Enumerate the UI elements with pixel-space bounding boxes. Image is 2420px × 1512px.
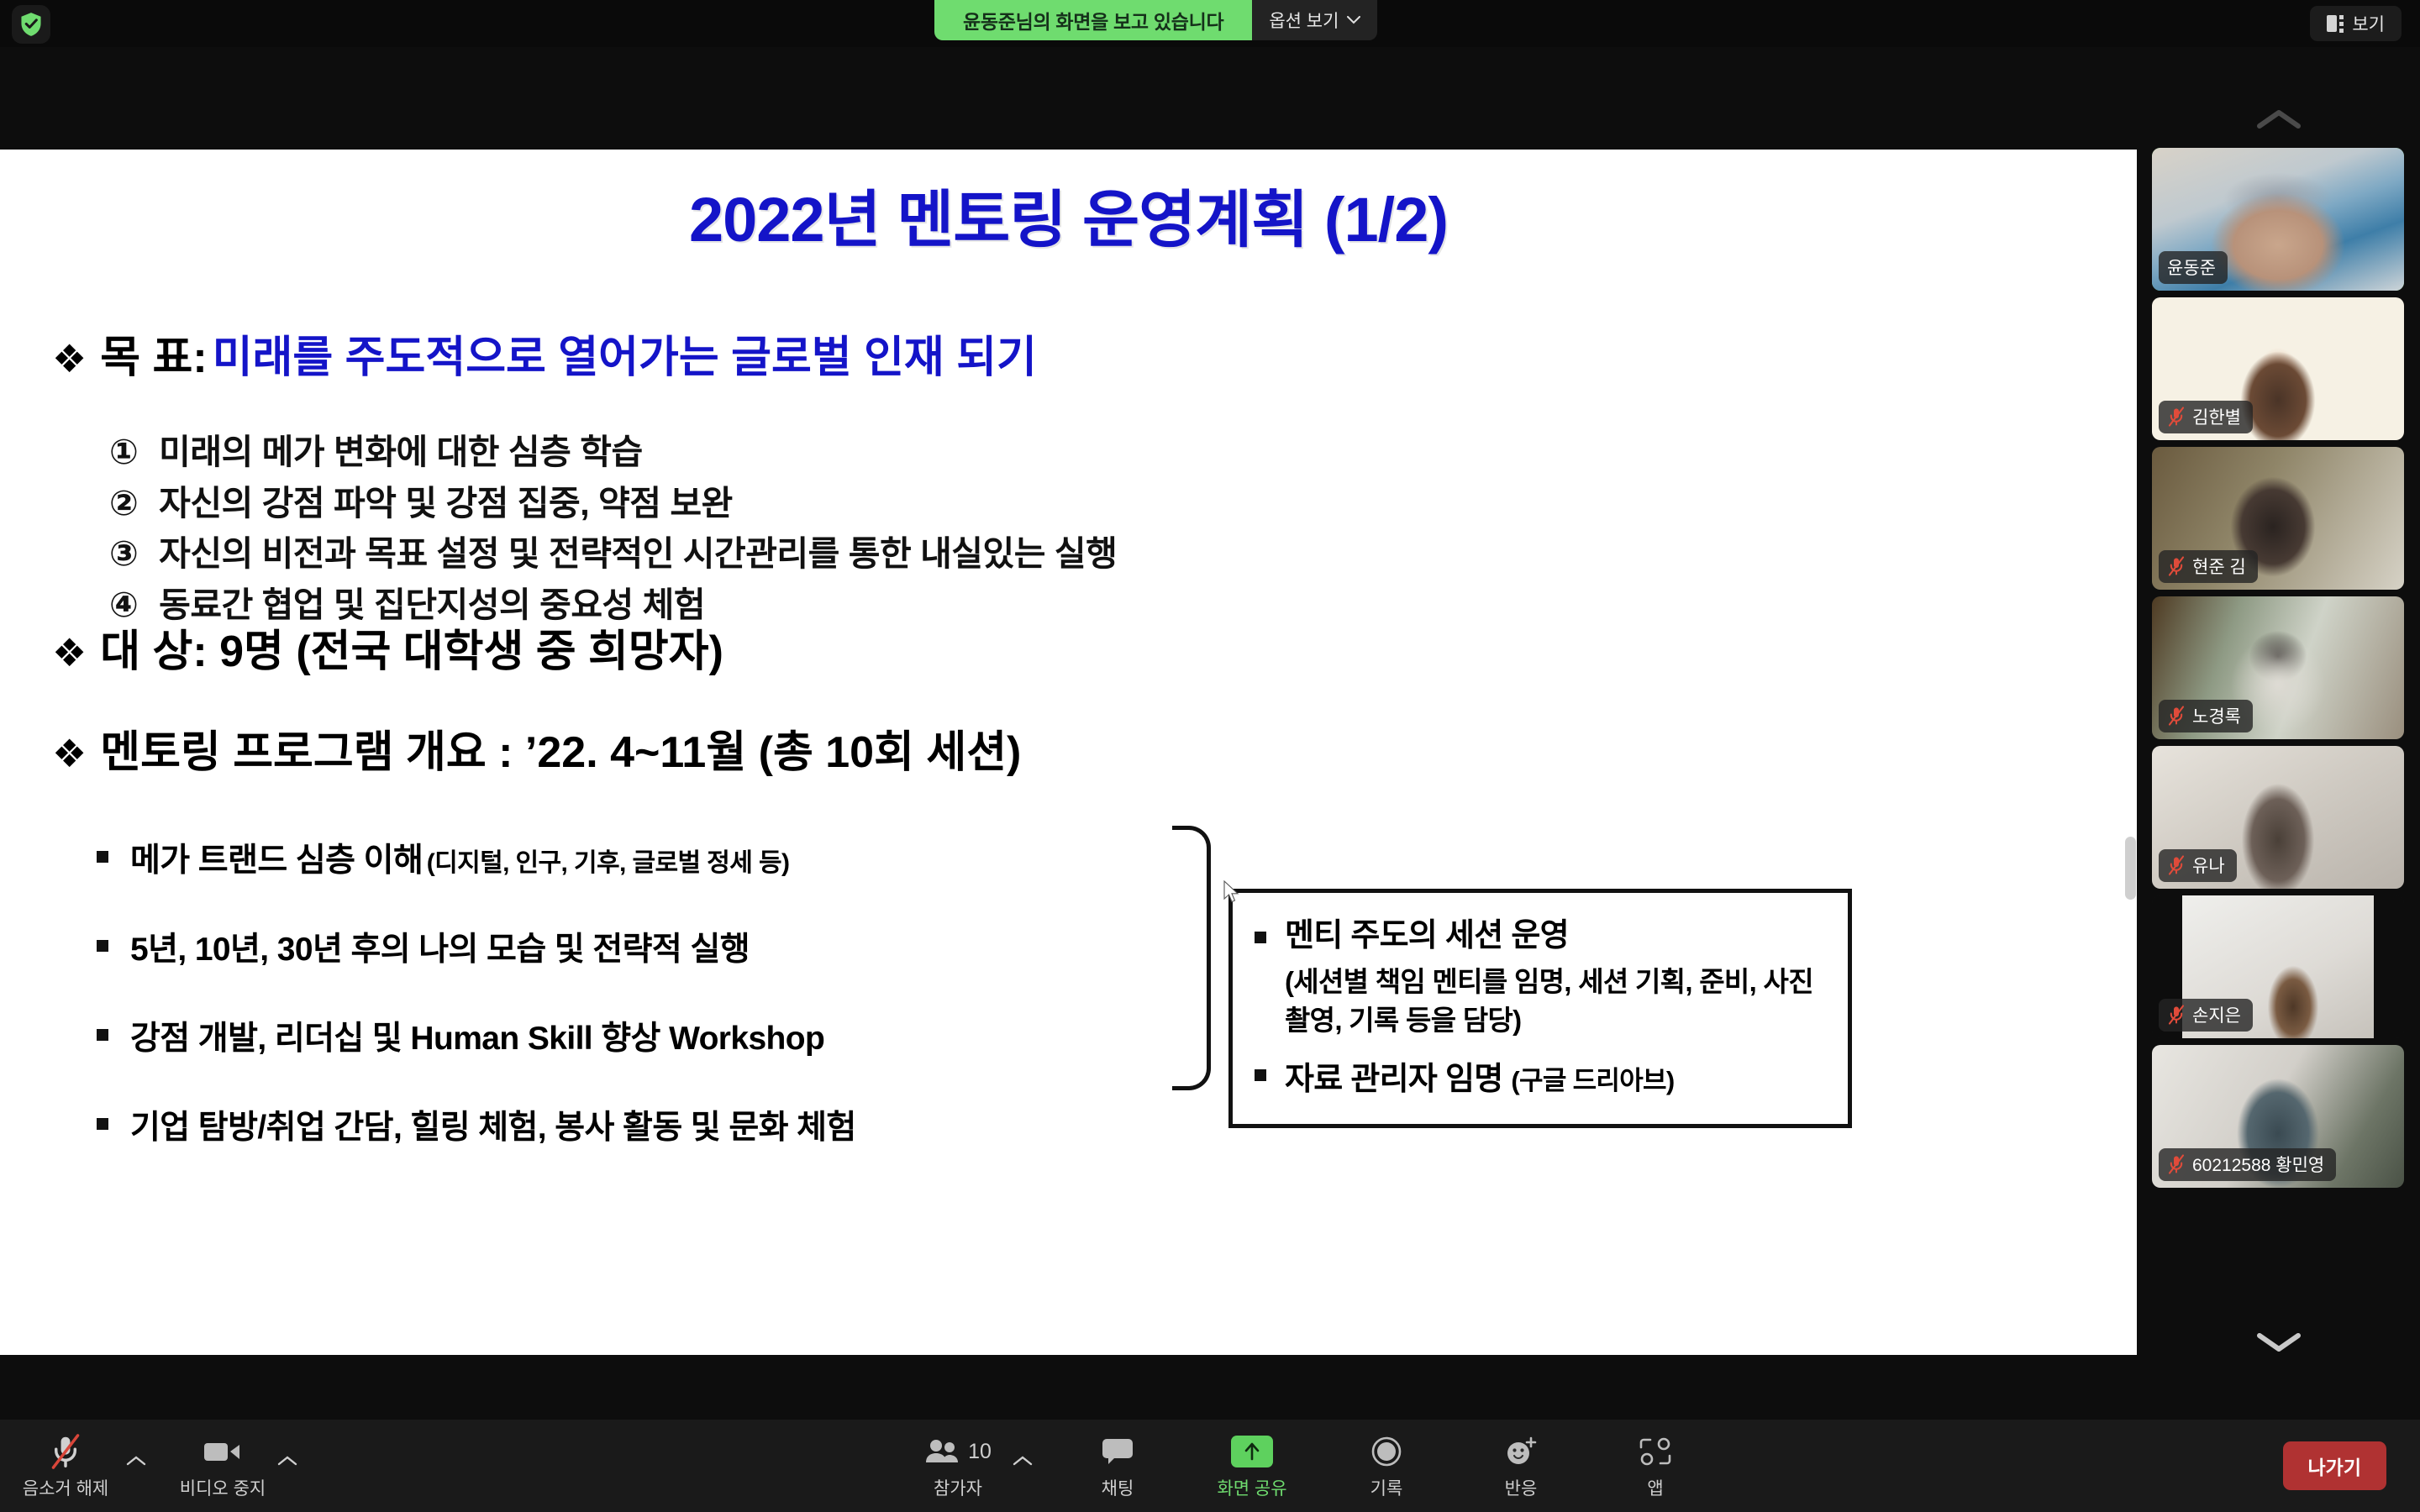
slide-goal-value: 미래를 주도적으로 열어가는 글로벌 인재 되기	[213, 322, 1037, 385]
leave-meeting-button[interactable]: 나가기	[2283, 1441, 2386, 1490]
apps-button-label: 앱	[1647, 1475, 1663, 1500]
encryption-shield-button[interactable]	[12, 5, 50, 44]
participant-nametag: 김한별	[2159, 401, 2253, 433]
microphone-off-icon	[2167, 1154, 2186, 1174]
slide-title: 2022년 멘토링 운영계획 (1/2)	[0, 170, 2137, 260]
diamond-bullet-icon: ❖	[52, 339, 87, 378]
smiley-plus-icon	[1504, 1432, 1538, 1471]
participant-name: 유나	[2192, 853, 2225, 878]
chevron-up-icon	[2257, 108, 2301, 130]
participant-nametag: 유나	[2159, 849, 2237, 882]
reactions-button-label: 반응	[1505, 1475, 1538, 1500]
participant-filmstrip: 윤동준 김한별	[2137, 47, 2420, 1420]
apps-icon	[1639, 1432, 1672, 1471]
participant-nametag: 60212588 황민영	[2159, 1148, 2336, 1181]
shared-screen-slide[interactable]: 2022년 멘토링 운영계획 (1/2) ❖ 목 표: 미래를 주도적으로 열어…	[0, 150, 2137, 1355]
chat-button[interactable]: 채팅	[1067, 1432, 1168, 1500]
slide-goal-items: ① 미래의 메가 변화에 대한 심층 학습 ② 자신의 강점 파악 및 강점 집…	[109, 427, 1117, 631]
layout-icon	[2327, 15, 2344, 33]
square-bullet-icon	[1255, 1069, 1266, 1081]
leave-meeting-label: 나가기	[2308, 1457, 2361, 1478]
chat-bubble-icon	[1100, 1432, 1135, 1471]
mute-button[interactable]: 음소거 해제	[15, 1432, 116, 1500]
share-screen-button-label: 화면 공유	[1217, 1475, 1286, 1500]
participant-tile[interactable]: 60212588 황민영	[2152, 1045, 2404, 1188]
arrow-up-icon	[1231, 1436, 1273, 1467]
diamond-bullet-icon: ❖	[52, 734, 87, 773]
side-box-item2-note: (구글 드리아브)	[1511, 1066, 1674, 1095]
square-bullet-icon	[97, 1029, 108, 1041]
participant-tile[interactable]: 손지은	[2152, 895, 2404, 1038]
video-options-caret[interactable]	[277, 1450, 297, 1472]
participant-name: 노경록	[2192, 703, 2241, 728]
participant-nametag: 노경록	[2159, 700, 2253, 732]
goal-item: ③ 자신의 비전과 목표 설정 및 전략적인 시간관리를 통한 내실있는 실행	[109, 528, 1117, 580]
chevron-up-icon	[126, 1455, 146, 1467]
view-options-button[interactable]: 옵션 보기	[1252, 0, 1377, 40]
program-item-main: 메가 트랜드 심층 이해	[130, 843, 423, 879]
goal-item-text: 미래의 메가 변화에 대한 심층 학습	[159, 433, 643, 471]
slide-goal-label: 목 표:	[100, 322, 207, 385]
slide-program-text: 멘토링 프로그램 개요 : ’22. 4~11월 (총 10회 세션)	[100, 717, 1021, 780]
participants-button[interactable]: 10 참가자	[907, 1432, 1008, 1500]
record-circle-icon	[1370, 1432, 1402, 1471]
view-button-label: 보기	[2352, 11, 2385, 36]
goal-item-text: 자신의 비전과 목표 설정 및 전략적인 시간관리를 통한 내실있는 실행	[159, 534, 1117, 573]
shared-screen-scrollbar[interactable]	[2125, 837, 2136, 900]
share-screen-button[interactable]: 화면 공유	[1202, 1432, 1302, 1500]
share-screen-icon	[1231, 1432, 1273, 1471]
chevron-down-icon	[1347, 16, 1360, 24]
camera-icon	[203, 1432, 242, 1471]
participant-tile[interactable]: 윤동준	[2152, 148, 2404, 291]
chevron-down-icon	[2257, 1331, 2301, 1353]
program-item: 강점 개발, 리더십 및 Human Skill 향상 Workshop	[97, 1012, 1273, 1059]
slide-program-row: ❖ 멘토링 프로그램 개요 : ’22. 4~11월 (총 10회 세션)	[52, 717, 1021, 780]
goal-item: ① 미래의 메가 변화에 대한 심층 학습	[109, 427, 1117, 478]
program-item-main: 5년, 10년, 30년 후의 나의 모습 및 전략적 실행	[130, 923, 750, 970]
goal-item-number: ②	[109, 484, 138, 522]
side-box-item: 자료 관리자 임명 (구글 드리아브)	[1255, 1053, 1831, 1099]
program-item: 기업 탐방/취업 간담, 힐링 체험, 봉사 활동 및 문화 체험	[97, 1101, 1273, 1148]
square-bullet-icon	[97, 940, 108, 952]
program-item-main: 강점 개발, 리더십 및 Human Skill 향상 Workshop	[130, 1012, 824, 1059]
goal-item-number: ③	[109, 534, 138, 573]
participant-tile[interactable]: 김한별	[2152, 297, 2404, 440]
participant-nametag: 손지은	[2159, 999, 2253, 1032]
record-button-label: 기록	[1370, 1475, 1403, 1500]
share-banner-text: 윤동준님의 화면을 보고 있습니다	[934, 0, 1252, 40]
square-bullet-icon	[1255, 932, 1266, 943]
participant-name: 김한별	[2192, 404, 2241, 429]
top-bar: 윤동준님의 화면을 보고 있습니다 옵션 보기 보기	[0, 0, 2420, 47]
slide-target-text: 대 상: 9명 (전국 대학생 중 희망자)	[100, 616, 723, 679]
participant-name: 손지은	[2192, 1002, 2241, 1027]
participant-name: 60212588 황민영	[2192, 1152, 2324, 1177]
zoom-meeting-window: 윤동준님의 화면을 보고 있습니다 옵션 보기 보기 2022년 멘토링 운영계…	[0, 0, 2420, 1512]
participants-count: 10	[968, 1440, 992, 1464]
side-box-item1-detail: (세션별 책임 멘티를 임명, 세션 기획, 준비, 사진 촬영, 기록 등을 …	[1285, 963, 1831, 1040]
reactions-button[interactable]: 반응	[1470, 1432, 1571, 1500]
mute-button-label: 음소거 해제	[23, 1475, 108, 1500]
program-item: 메가 트랜드 심층 이해 (디지털, 인구, 기후, 글로벌 정세 등)	[97, 834, 1273, 881]
slide-side-box: 멘티 주도의 세션 운영 (세션별 책임 멘티를 임명, 세션 기획, 준비, …	[1228, 889, 1852, 1128]
microphone-off-icon	[2167, 556, 2186, 576]
thumbnail-list: 윤동준 김한별	[2152, 148, 2404, 1194]
microphone-off-icon	[2167, 706, 2186, 726]
square-bullet-icon	[97, 1118, 108, 1130]
participant-name: 윤동준	[2167, 255, 2216, 280]
program-item-main: 기업 탐방/취업 간담, 힐링 체험, 봉사 활동 및 문화 체험	[130, 1101, 856, 1148]
program-item-note: (디지털, 인구, 기후, 글로벌 정세 등)	[427, 849, 790, 877]
scroll-down-button[interactable]	[2249, 1326, 2308, 1359]
audio-options-caret[interactable]	[126, 1450, 146, 1472]
scroll-up-button[interactable]	[2249, 102, 2308, 136]
side-box-item: 멘티 주도의 세션 운영	[1255, 915, 1831, 958]
apps-button[interactable]: 앱	[1605, 1432, 1706, 1500]
diamond-bullet-icon: ❖	[52, 633, 87, 672]
goal-item-text: 자신의 강점 파악 및 강점 집중, 약점 보완	[159, 484, 733, 522]
screen-share-banner: 윤동준님의 화면을 보고 있습니다 옵션 보기	[934, 0, 1377, 40]
side-box-item1-title: 멘티 주도의 세션 운영	[1285, 915, 1569, 958]
participants-button-label: 참가자	[934, 1475, 982, 1500]
meeting-toolbar: 음소거 해제 비디오 중지	[0, 1420, 2420, 1512]
cursor-arrow-icon	[1223, 880, 1242, 906]
video-button[interactable]: 비디오 중지	[172, 1432, 273, 1500]
view-options-label: 옵션 보기	[1269, 8, 1339, 33]
record-button[interactable]: 기록	[1336, 1432, 1437, 1500]
slide-program-items: 메가 트랜드 심층 이해 (디지털, 인구, 기후, 글로벌 정세 등) 5년,…	[97, 834, 1273, 1190]
goal-item: ② 자신의 강점 파악 및 강점 집중, 약점 보완	[109, 478, 1117, 529]
participant-name: 현준 김	[2192, 554, 2246, 579]
microphone-off-icon	[2167, 407, 2186, 427]
chat-button-label: 채팅	[1102, 1475, 1134, 1500]
microphone-off-icon	[2167, 1005, 2186, 1025]
participants-options-caret[interactable]	[1013, 1450, 1033, 1472]
side-box-item2-title: 자료 관리자 임명	[1285, 1062, 1503, 1097]
microphone-off-icon	[49, 1432, 82, 1471]
curly-brace-decoration	[1172, 826, 1211, 1090]
participant-tile[interactable]: 현준 김	[2152, 447, 2404, 590]
chevron-up-icon	[277, 1455, 297, 1467]
video-button-label: 비디오 중지	[180, 1475, 266, 1500]
chevron-up-icon	[1013, 1455, 1033, 1467]
slide-goal-row: ❖ 목 표: 미래를 주도적으로 열어가는 글로벌 인재 되기	[52, 322, 1037, 385]
participant-tile[interactable]: 유나	[2152, 746, 2404, 889]
view-layout-button[interactable]: 보기	[2310, 6, 2402, 41]
shield-check-icon	[19, 12, 43, 37]
goal-item-number: ①	[109, 433, 138, 471]
participant-nametag: 윤동준	[2159, 251, 2228, 284]
slide-target-row: ❖ 대 상: 9명 (전국 대학생 중 희망자)	[52, 616, 723, 679]
program-item: 5년, 10년, 30년 후의 나의 모습 및 전략적 실행	[97, 923, 1273, 970]
participant-nametag: 현준 김	[2159, 550, 2258, 583]
participant-tile[interactable]: 노경록	[2152, 596, 2404, 739]
people-icon: 10	[924, 1432, 992, 1471]
microphone-off-icon	[2167, 855, 2186, 875]
square-bullet-icon	[97, 851, 108, 863]
